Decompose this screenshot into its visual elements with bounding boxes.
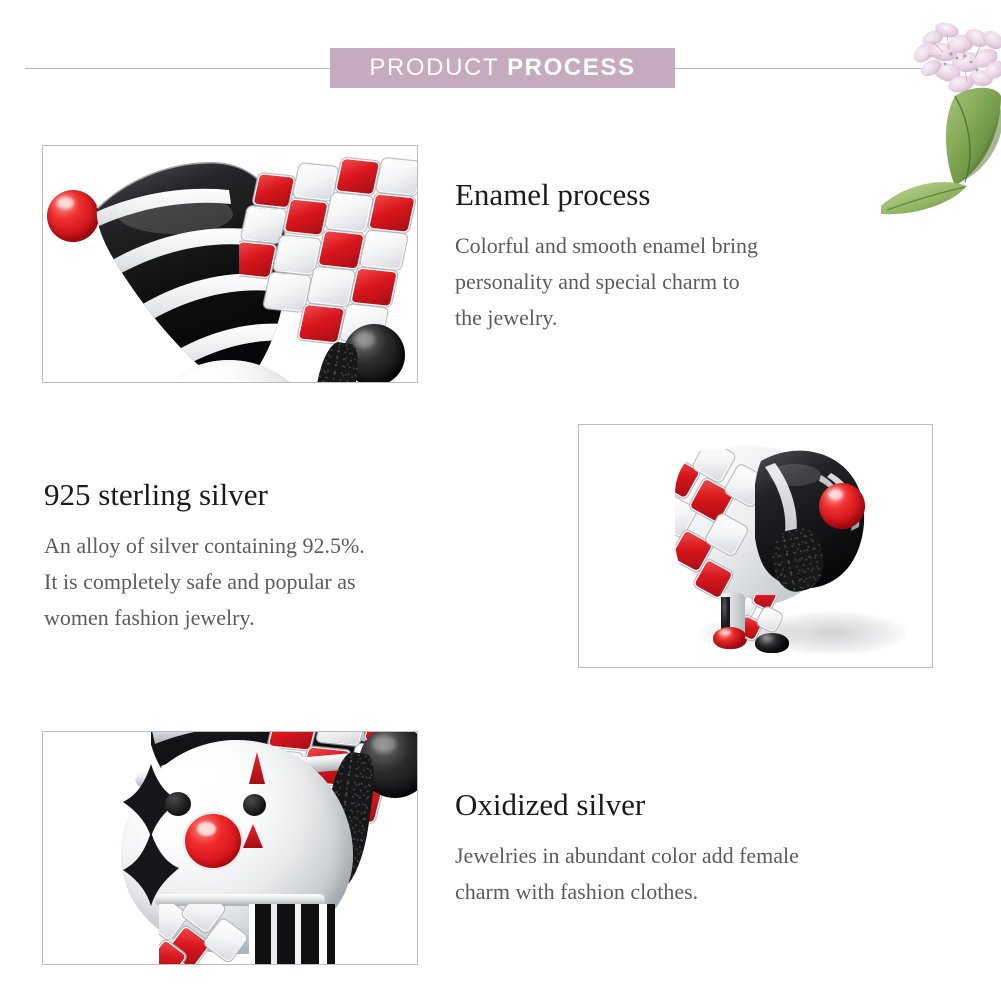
product-photo-sterling[interactable] — [578, 424, 933, 668]
section-body: An alloy of silver containing 92.5%. It … — [44, 528, 514, 636]
right-eye — [243, 794, 266, 816]
checker-tile — [294, 165, 337, 200]
section-oxidized: Oxidized silver Jewelries in abundant co… — [455, 788, 935, 910]
banner-title-bold: PROCESS — [507, 54, 636, 81]
checker-tile — [285, 200, 328, 235]
section-heading: Oxidized silver — [455, 788, 935, 822]
section-title-banner: PRODUCT PROCESS — [330, 48, 675, 88]
diamond-tile — [706, 514, 747, 555]
product-photo-oxidized[interactable] — [42, 731, 418, 965]
black-star-eye-patch — [119, 762, 181, 910]
section-heading: 925 sterling silver — [44, 478, 514, 512]
product-photo-enamel[interactable] — [42, 145, 418, 383]
checker-tile — [361, 232, 406, 269]
charm-body-checker — [159, 904, 255, 965]
checker-tile — [309, 268, 354, 305]
charm-illustration-face — [43, 732, 417, 964]
product-process-page: PRODUCT PROCESS — [0, 0, 1001, 1001]
checker-tile — [254, 174, 294, 207]
diamond-tile — [694, 449, 735, 482]
banner-title: PRODUCT PROCESS — [369, 54, 635, 82]
checker-tile — [275, 236, 320, 273]
checker-tile — [265, 273, 310, 310]
section-enamel: Enamel process Colorful and smooth ename… — [455, 178, 905, 336]
checker-tile — [369, 194, 414, 231]
charm-body-striped — [249, 904, 335, 965]
charm-illustration-hat — [43, 146, 417, 382]
banner-title-regular: PRODUCT — [369, 54, 507, 81]
checker-tile — [352, 269, 397, 306]
diamond-tile — [757, 607, 781, 631]
section-body: Colorful and smooth enamel bring persona… — [455, 228, 905, 336]
checker-tile — [239, 242, 275, 277]
diamond-tile — [753, 595, 777, 610]
checker-tile — [319, 231, 364, 268]
left-eye — [165, 792, 191, 816]
charm-illustration-back — [579, 425, 932, 667]
diamond-tile — [690, 479, 734, 523]
checker-tile — [299, 305, 344, 342]
black-star-eye-patch — [129, 382, 183, 383]
section-heading: Enamel process — [455, 178, 905, 212]
red-nose — [185, 814, 241, 868]
checker-tile — [326, 194, 371, 231]
checker-tile — [318, 731, 366, 745]
section-sterling: 925 sterling silver An alloy of silver c… — [44, 478, 514, 636]
foot-left — [713, 627, 747, 649]
section-body: Jewelries in abundant color add female c… — [455, 838, 935, 910]
checker-tile — [377, 159, 418, 194]
red-pompom — [819, 483, 865, 529]
foot-right — [755, 633, 789, 653]
checker-tile — [242, 207, 285, 242]
checker-tile — [336, 159, 379, 194]
